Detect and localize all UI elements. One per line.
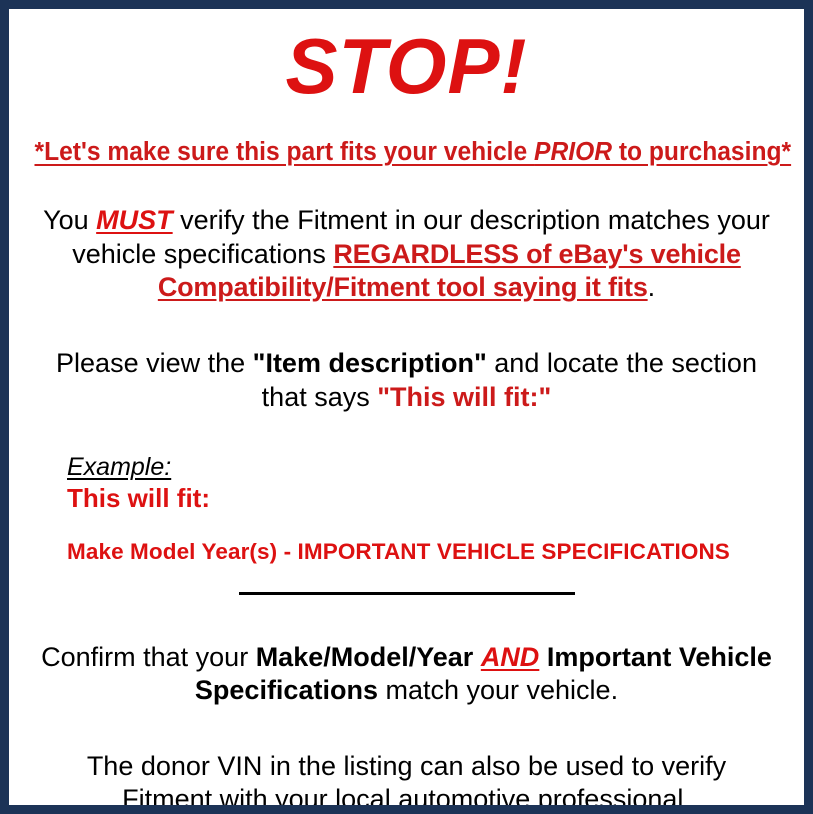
divider-wrap — [21, 585, 792, 603]
emphasis-item-description: "Item description" — [253, 348, 487, 378]
confirm-paragraph: Confirm that your Make/Model/Year AND Im… — [21, 641, 792, 708]
emphasis-must: MUST — [96, 205, 173, 235]
example-block: Example: This will fit: Make Model Year(… — [21, 454, 792, 564]
item-description-paragraph: Please view the "Item description" and l… — [21, 347, 792, 414]
emphasis-make-model-year: Make/Model/Year — [256, 642, 474, 672]
subtitle-emphasis-prior: PRIOR — [534, 138, 612, 166]
must-verify-paragraph: You MUST verify the Fitment in our descr… — [21, 204, 792, 304]
emphasis-this-will-fit: "This will fit:" — [377, 382, 551, 412]
notice-body: STOP! *Let's make sure this part fits yo… — [9, 27, 804, 814]
subtitle-after: to purchasing* — [612, 138, 791, 166]
example-spec-line: Make Model Year(s) - IMPORTANT VEHICLE S… — [67, 539, 792, 565]
subtitle-line: *Let's make sure this part fits your veh… — [34, 138, 778, 166]
must-seg-1: You — [43, 205, 96, 235]
emphasis-and: AND — [481, 642, 540, 672]
confirm-seg-1: Confirm that your — [41, 642, 256, 672]
donor-vin-paragraph: The donor VIN in the listing can also be… — [21, 750, 792, 814]
confirm-seg-2: match your vehicle. — [378, 675, 618, 705]
stop-headline: STOP! — [21, 27, 792, 105]
itemdesc-seg-1: Please view the — [56, 348, 253, 378]
example-label: Example: — [67, 454, 171, 482]
subtitle-before: *Let's make sure this part fits your veh… — [34, 138, 534, 166]
example-label-row: Example: — [67, 454, 792, 482]
must-seg-3: . — [648, 272, 656, 302]
fitment-notice-frame: STOP! *Let's make sure this part fits yo… — [0, 0, 813, 814]
horizontal-divider — [239, 592, 575, 595]
example-this-will-fit: This will fit: — [67, 484, 792, 514]
